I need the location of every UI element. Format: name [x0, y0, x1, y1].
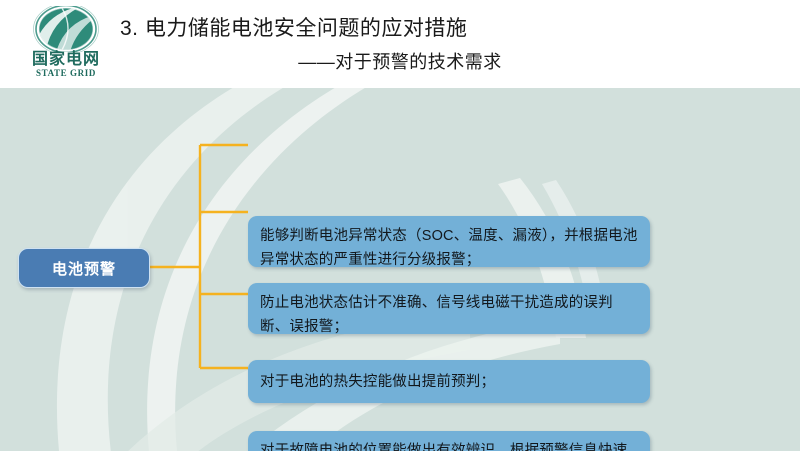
logo-english-name: STATE GRID [18, 68, 114, 78]
branch-box-2-text: 防止电池状态估计不准确、信号线电磁干扰造成的误判断、误报警； [260, 291, 639, 339]
state-grid-globe-icon [32, 6, 100, 52]
slide: 国家电网 STATE GRID 3. 电力储能电池安全问题的应对措施 ——对于预… [0, 0, 800, 451]
branch-box-4-text: 对于故障电池的位置能做出有效辨识，根据预警信息快速定位； [260, 439, 639, 451]
state-grid-logo: 国家电网 STATE GRID [18, 6, 114, 82]
root-node-label: 电池预警 [52, 258, 116, 279]
branch-box-2[interactable]: 防止电池状态估计不准确、信号线电磁干扰造成的误判断、误报警； [248, 283, 650, 334]
branch-box-1[interactable]: 能够判断电池异常状态（SOC、温度、漏液），并根据电池异常状态的严重性进行分级报… [248, 216, 650, 267]
branch-box-3-text: 对于电池的热失控能做出提前预判； [260, 370, 639, 394]
branch-box-1-text: 能够判断电池异常状态（SOC、温度、漏液），并根据电池异常状态的严重性进行分级报… [260, 224, 639, 272]
slide-header: 国家电网 STATE GRID 3. 电力储能电池安全问题的应对措施 ——对于预… [0, 0, 800, 88]
page-title: 3. 电力储能电池安全问题的应对措施 [120, 12, 680, 42]
page-subtitle: ——对于预警的技术需求 [120, 48, 680, 74]
branch-box-3[interactable]: 对于电池的热失控能做出提前预判； [248, 360, 650, 403]
slide-body: 电池预警 能够判断电池异常状态（SOC、温度、漏液），并根据电池异常状态的严重性… [0, 88, 800, 451]
root-node-battery-warning[interactable]: 电池预警 [18, 248, 150, 288]
logo-chinese-name: 国家电网 [18, 50, 114, 67]
branch-box-4[interactable]: 对于故障电池的位置能做出有效辨识，根据预警信息快速定位； [248, 431, 650, 451]
